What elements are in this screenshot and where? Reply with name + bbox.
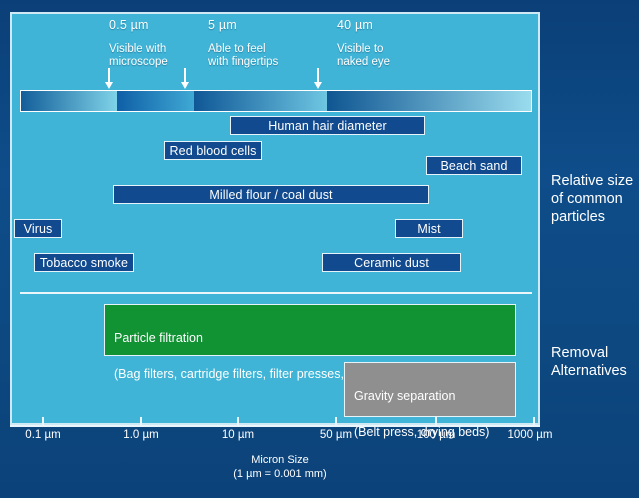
section-title-relative-size: Relative size of common particles	[551, 172, 633, 226]
axis-tick-0	[42, 417, 44, 426]
marker-size-0: 0.5 µm	[109, 18, 149, 32]
filtration-title: Particle filtration	[114, 329, 506, 347]
particle-label-beach-sand: Beach sand	[426, 156, 522, 175]
gravity-title: Gravity separation	[354, 387, 506, 405]
particle-label-red-blood-cells: Red blood cells	[164, 141, 262, 160]
arrow-down-icon-2	[313, 68, 322, 90]
axis-label-3: 50 µm	[320, 429, 352, 441]
particle-label-tobacco-smoke: Tobacco smoke	[34, 253, 134, 272]
particle-label-human-hair: Human hair diameter	[230, 116, 425, 135]
axis-label-5: 1000 µm	[508, 429, 553, 441]
axis-tick-2	[237, 417, 239, 426]
marker-desc-2: Visible to naked eye	[337, 43, 390, 69]
chart-panel: 0.5 µm 5 µm 40 µm Visible with microscop…	[10, 12, 540, 425]
particle-label-ceramic-dust: Ceramic dust	[322, 253, 461, 272]
axis-tick-1	[140, 417, 142, 426]
size-spectrum-bar	[20, 90, 532, 112]
removal-box-particle-filtration: Particle filtration (Bag filters, cartri…	[104, 304, 516, 356]
axis-line	[10, 425, 540, 427]
infographic-root: 0.5 µm 5 µm 40 µm Visible with microscop…	[0, 0, 639, 498]
axis-tick-3	[335, 417, 337, 426]
marker-size-1: 5 µm	[208, 18, 237, 32]
axis-label-1: 1.0 µm	[123, 429, 158, 441]
spectrum-segment-0	[21, 91, 117, 111]
section-title-removal-alternatives: Removal Alternatives	[551, 344, 627, 380]
arrow-down-icon-1	[180, 68, 189, 90]
axis-tick-5	[533, 417, 535, 426]
particle-label-virus: Virus	[14, 219, 62, 238]
axis-caption: Micron Size (1 µm = 0.001 mm)	[0, 453, 560, 481]
spectrum-segment-2	[194, 91, 327, 111]
particle-label-milled-flour: Milled flour / coal dust	[113, 185, 429, 204]
spectrum-segment-3	[327, 91, 531, 111]
section-divider	[20, 292, 532, 294]
marker-desc-0: Visible with microscope	[109, 43, 168, 69]
axis-label-4: 100 µm	[417, 429, 456, 441]
marker-desc-1: Able to feel with fingertips	[208, 43, 278, 69]
spectrum-segment-1	[117, 91, 194, 111]
axis-tick-4	[435, 417, 437, 426]
removal-box-gravity-separation: Gravity separation (Belt press, drying b…	[344, 362, 516, 417]
axis-label-2: 10 µm	[222, 429, 254, 441]
axis-label-0: 0.1 µm	[25, 429, 60, 441]
arrow-down-icon-0	[104, 68, 113, 90]
particle-label-mist: Mist	[395, 219, 463, 238]
marker-size-2: 40 µm	[337, 18, 373, 32]
